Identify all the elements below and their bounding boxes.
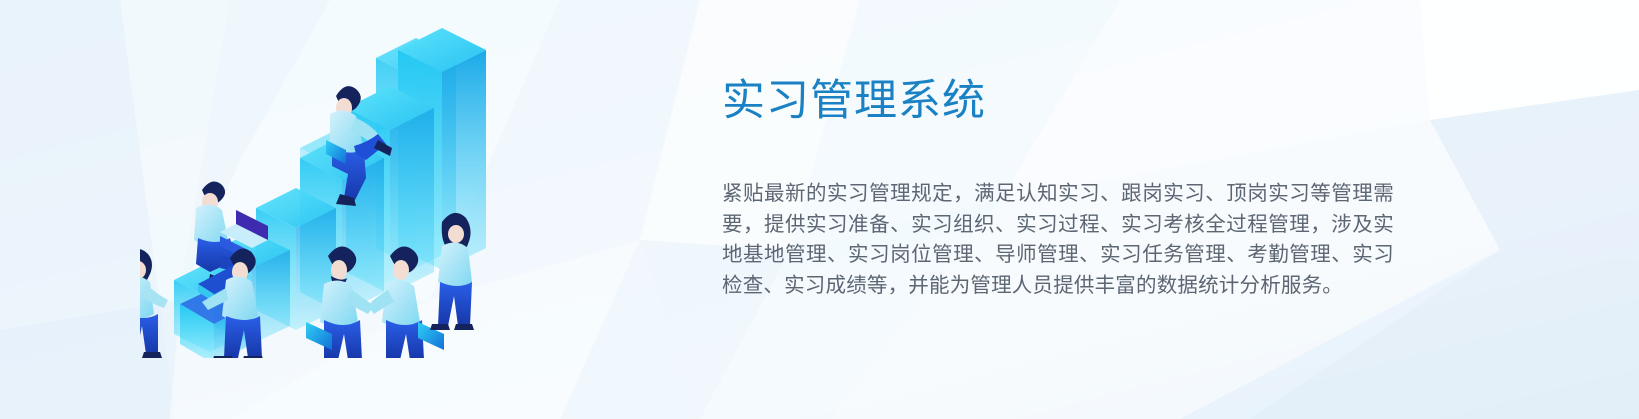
banner-text-block: 实习管理系统 紧贴最新的实习管理规定，满足认知实习、跟岗实习、顶岗实习等管理需要…	[722, 72, 1412, 301]
figure-woman-left	[140, 249, 168, 358]
page-title: 实习管理系统	[722, 72, 1412, 130]
hero-banner: 实习管理系统 紧贴最新的实习管理规定，满足认知实习、跟岗实习、顶岗实习等管理需要…	[0, 0, 1639, 419]
banner-description: 紧贴最新的实习管理规定，满足认知实习、跟岗实习、顶岗实习等管理需要，提供实习准备…	[722, 179, 1394, 301]
hero-illustration	[140, 18, 500, 358]
